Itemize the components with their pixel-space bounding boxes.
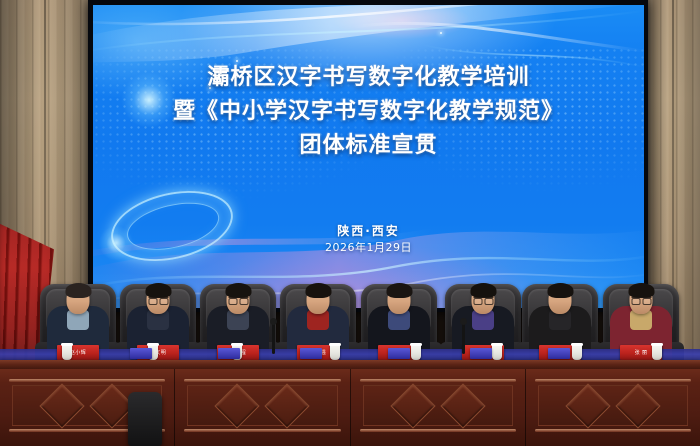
table-panel <box>351 369 526 446</box>
person-hair <box>305 283 331 298</box>
person-head <box>388 286 411 314</box>
person-head <box>549 286 572 314</box>
panel-inset <box>187 385 337 426</box>
document-folder <box>300 348 322 359</box>
panel-trim-top <box>360 379 516 382</box>
person-hair <box>470 283 496 298</box>
person-head <box>67 286 90 314</box>
eyeglasses <box>148 297 168 304</box>
title-line-2: 暨《中小学汉字书写数字化教学规范》 <box>93 95 644 129</box>
person-head <box>227 286 250 314</box>
person-hair <box>145 283 171 298</box>
paper-cup <box>492 343 502 360</box>
panel-trim-top <box>184 379 340 382</box>
paper-cup <box>330 343 340 360</box>
person-hair <box>225 283 251 298</box>
panel-trim-bottom <box>360 429 516 432</box>
title-line-3: 团体标准宣贯 <box>93 129 644 163</box>
screen-subtitle: 陕西·西安 2026年1月29日 <box>93 223 644 256</box>
document-folder <box>548 348 570 359</box>
table-panel <box>175 369 350 446</box>
panel-trim-bottom <box>535 429 691 432</box>
person-head <box>147 286 170 314</box>
document-folder <box>470 348 492 359</box>
person-head <box>307 286 330 314</box>
document-folder <box>218 348 240 359</box>
person-head <box>630 286 653 314</box>
diamond-motif <box>390 383 435 428</box>
paper-cup <box>62 343 72 360</box>
eyeglasses <box>473 297 493 304</box>
sparkle-dot <box>440 32 442 34</box>
diamond-motif <box>615 383 660 428</box>
panel-trim-bottom <box>184 429 340 432</box>
panel-inset <box>363 385 513 426</box>
led-screen: 灞桥区汉字书写数字化教学培训 暨《中小学汉字书写数字化教学规范》 团体标准宣贯 … <box>93 5 644 308</box>
title-line-1: 灞桥区汉字书写数字化教学培训 <box>93 61 644 95</box>
person-head <box>472 286 495 314</box>
paper-cup <box>411 343 421 360</box>
panel-trim-top <box>535 379 691 382</box>
document-folder <box>388 348 410 359</box>
diamond-motif <box>565 383 610 428</box>
person-hair <box>628 283 654 298</box>
screen-title: 灞桥区汉字书写数字化教学培训 暨《中小学汉字书写数字化教学规范》 团体标准宣贯 <box>93 61 644 163</box>
diamond-motif <box>40 383 85 428</box>
table-front-panels <box>0 369 700 446</box>
paper-cup <box>652 343 662 360</box>
subtitle-date: 2026年1月29日 <box>93 240 644 256</box>
diamond-motif <box>440 383 485 428</box>
eyeglasses <box>631 297 651 304</box>
speaker-box <box>128 392 162 446</box>
eyeglasses <box>228 297 248 304</box>
microphone <box>272 322 275 354</box>
paper-cup <box>572 343 582 360</box>
person-hair <box>65 283 91 298</box>
document-folder <box>130 348 152 359</box>
person-hair <box>547 283 573 298</box>
microphone <box>462 322 465 354</box>
panel-trim-top <box>9 379 165 382</box>
person-hair <box>386 283 412 298</box>
diamond-motif <box>215 383 260 428</box>
diamond-motif <box>265 383 310 428</box>
subtitle-location: 陕西·西安 <box>93 223 644 240</box>
conference-photo: 灞桥区汉字书写数字化教学培训 暨《中小学汉字书写数字化教学规范》 团体标准宣贯 … <box>0 0 700 446</box>
panel-inset <box>538 385 688 426</box>
table-panel <box>526 369 700 446</box>
